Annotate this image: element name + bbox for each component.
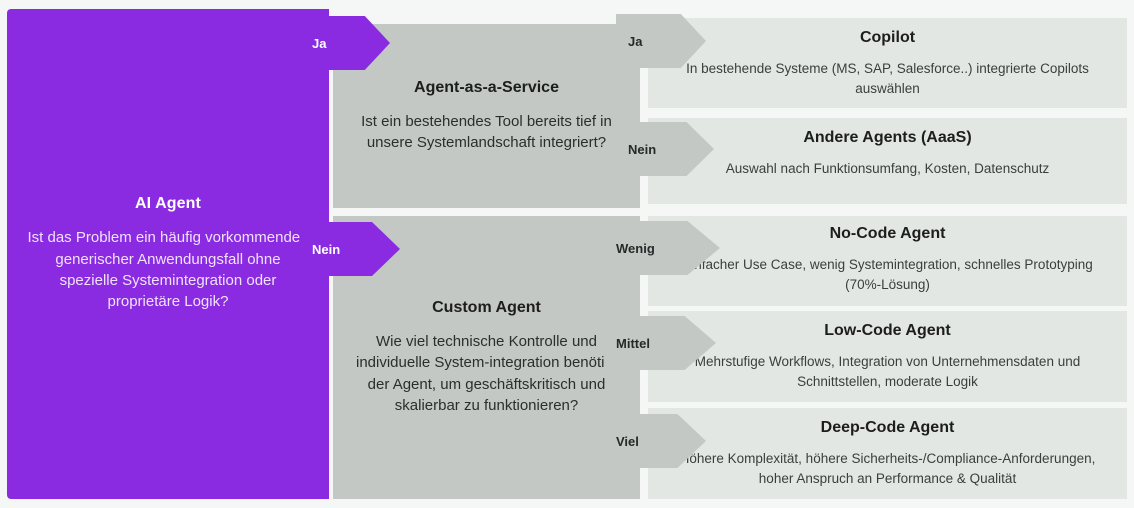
seam-mid-left-1	[329, 70, 333, 222]
seam-top	[0, 0, 1134, 9]
node-ai-agent-title: AI Agent	[135, 195, 201, 213]
node-deep-code-agent[interactable]: Deep-Code Agent Höhere Komplexität, höhe…	[648, 408, 1127, 499]
connector-label-ja-root: Ja	[300, 36, 326, 51]
seam-leaf-gap-1	[648, 108, 1127, 118]
connector-label-ja-aaas: Ja	[616, 34, 642, 49]
node-custom-agent-question: Wie viel technische Kontrolle und indivi…	[347, 331, 626, 416]
node-no-code-agent-description: Einfacher Use Case, wenig Systemintegrat…	[664, 255, 1111, 294]
seam-mid-left-2	[329, 276, 333, 508]
seam-right-3	[640, 275, 648, 316]
node-custom-agent-title: Custom Agent	[432, 299, 541, 317]
node-andere-agents-description: Auswahl nach Funktionsumfang, Kosten, Da…	[726, 159, 1049, 179]
node-ai-agent-question: Ist das Problem ein häufig vorkommender,…	[25, 227, 311, 312]
node-copilot-description: In bestehende Systeme (MS, SAP, Salesfor…	[664, 59, 1111, 98]
seam-right-4	[640, 370, 648, 414]
node-no-code-agent-title: No-Code Agent	[830, 225, 946, 243]
connector-label-wenig: Wenig	[604, 241, 655, 256]
seam-leaf-gap-4	[648, 402, 1127, 408]
node-no-code-agent[interactable]: No-Code Agent Einfacher Use Case, wenig …	[648, 214, 1127, 306]
connector-label-mittel: Mittel	[604, 336, 650, 351]
node-deep-code-agent-description: Höhere Komplexität, höhere Sicherheits-/…	[664, 449, 1111, 488]
node-andere-agents-title: Andere Agents (AaaS)	[803, 129, 971, 147]
node-agent-as-a-service-question: Ist ein bestehendes Tool bereits tief in…	[347, 111, 626, 154]
seam-leaf-gap-2	[648, 204, 1127, 214]
node-low-code-agent-description: Mehrstufige Workflows, Integration von U…	[664, 352, 1111, 391]
node-low-code-agent-title: Low-Code Agent	[824, 322, 951, 340]
node-andere-agents[interactable]: Andere Agents (AaaS) Auswahl nach Funkti…	[648, 118, 1127, 204]
connector-label-nein-root: Nein	[300, 242, 340, 257]
node-agent-as-a-service-title: Agent-as-a-Service	[414, 79, 559, 97]
seam-bottom	[0, 499, 1134, 508]
node-low-code-agent[interactable]: Low-Code Agent Mehrstufige Workflows, In…	[648, 311, 1127, 402]
connector-label-nein-aaas: Nein	[616, 142, 656, 157]
seam-right-1	[640, 68, 648, 122]
node-deep-code-agent-title: Deep-Code Agent	[821, 419, 955, 437]
connector-label-viel: Viel	[604, 434, 639, 449]
node-copilot-title: Copilot	[860, 29, 915, 47]
seam-leaf-gap-3	[648, 306, 1127, 311]
node-ai-agent[interactable]: AI Agent Ist das Problem ein häufig vork…	[7, 9, 329, 499]
decision-tree-diagram: AI Agent Ist das Problem ein häufig vork…	[0, 0, 1134, 508]
node-copilot[interactable]: Copilot In bestehende Systeme (MS, SAP, …	[648, 18, 1127, 108]
